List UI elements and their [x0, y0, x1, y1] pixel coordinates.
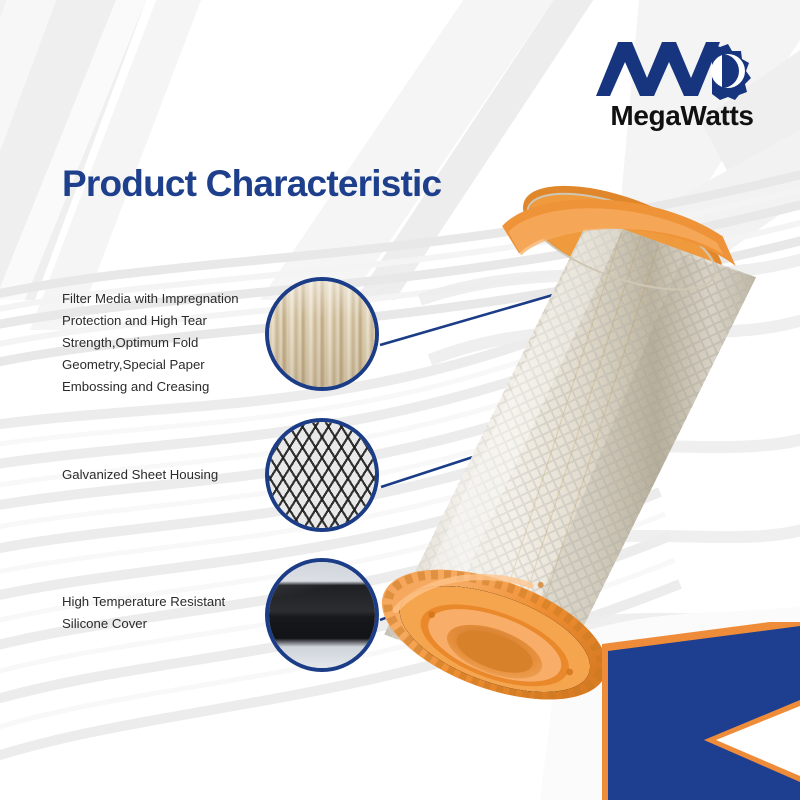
diamond-wire-mesh-texture — [269, 422, 375, 528]
detail-circle-filter-media[interactable] — [265, 277, 379, 391]
pleated-filter-paper-texture — [269, 281, 375, 387]
detail-circle-silicone-cover[interactable] — [265, 558, 379, 672]
infographic-canvas: MegaWatts Product Characteristic — [0, 0, 800, 800]
brand-wordmark: MegaWatts — [592, 100, 772, 132]
megawatts-zigzag-gear-logo — [592, 38, 772, 100]
feature-label-filter-media: Filter Media with Impregnation Protectio… — [62, 288, 267, 398]
feature-label-galvanized-housing: Galvanized Sheet Housing — [62, 464, 277, 486]
detail-circle-galvanized-housing[interactable] — [265, 418, 379, 532]
black-silicone-band-texture — [269, 562, 375, 668]
brand-logo: MegaWatts — [592, 38, 772, 143]
feature-label-silicone-cover: High Temperature Resistant Silicone Cove… — [62, 591, 262, 635]
navy-arrow-badge — [592, 622, 800, 800]
